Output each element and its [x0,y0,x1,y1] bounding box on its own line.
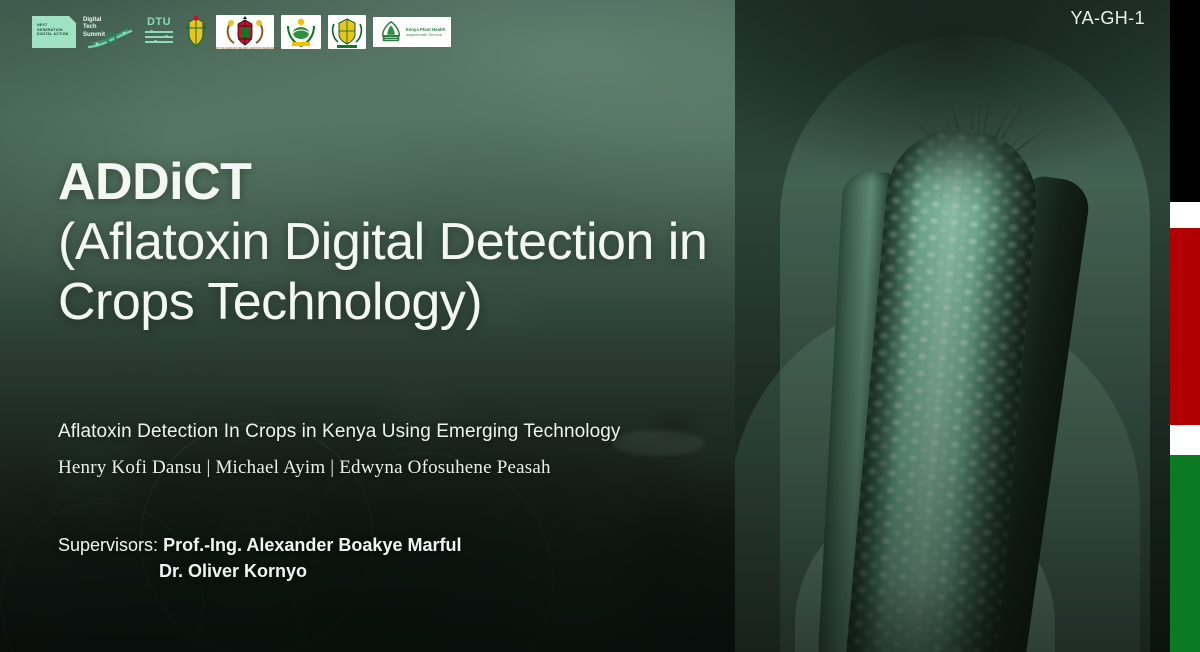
kalro-logo [281,15,321,49]
ghana-coat-of-arms-logo [183,15,209,49]
supervisor-name-2: Dr. Oliver Kornyo [58,558,461,584]
page-title: ADDiCT (Aflatoxin Digital Detection in C… [58,152,718,332]
supervisor-name-1: Prof.-Ing. Alexander Boakye Marful [163,535,461,555]
flag-band-2 [1170,228,1200,425]
next-generation-digital-action-logo: NEXT GENERATION DIGITAL ACTION [32,16,76,48]
slide-subtitle: Aflatoxin Detection In Crops in Kenya Us… [58,421,621,443]
title-expansion: (Aflatoxin Digital Detection in Crops Te… [58,213,707,331]
ngda-line-3: DIGITAL ACTION [37,32,68,37]
author-list: Henry Kofi Dansu | Michael Ayim | Edwyna… [58,457,551,479]
presentation-slide: NEXT GENERATION DIGITAL ACTION Digital T… [0,0,1200,652]
dts-line-1: Digital [83,17,105,24]
agriculture-crest-icon [328,15,366,49]
kenya-crest-icon [216,15,274,49]
supervisors-block: Supervisors: Prof.-Ing. Alexander Boakye… [58,532,461,584]
partner-logo-row: NEXT GENERATION DIGITAL ACTION Digital T… [32,13,451,51]
kephis-line-2: Inspectorate Service [406,32,446,37]
supervisors-label: Supervisors: [58,535,158,555]
flag-band-0 [1170,0,1200,202]
kephis-emblem-icon [379,20,403,44]
ghana-crest-icon [183,15,209,49]
maize-photo-panel [735,0,1170,652]
slide-code-label: YA-GH-1 [1071,8,1145,29]
kalro-icon [281,15,321,49]
title-acronym: ADDiCT [58,153,251,211]
kenya-coat-of-arms-logo: MINISTRY OF AGRICULTURE AND LIVESTOCK DE… [216,15,274,49]
dtu-logo: DTU [142,15,176,49]
kenya-crest-caption: MINISTRY OF AGRICULTURE AND LIVESTOCK DE… [216,47,274,49]
dts-swoosh-icon [87,29,133,49]
kenya-agriculture-logo [328,15,366,49]
flag-band-4 [1170,455,1200,652]
flag-band-1 [1170,202,1200,228]
kenya-flag-stripe [1170,0,1200,652]
flag-band-3 [1170,425,1200,455]
photo-green-tint [735,0,1170,652]
digital-tech-summit-logo: Digital Tech Summit [83,15,135,49]
dtu-label: DTU [142,16,176,28]
dtu-bars-icon [145,31,173,47]
kephis-logo: Kenya Plant Health Inspectorate Service [373,17,451,47]
